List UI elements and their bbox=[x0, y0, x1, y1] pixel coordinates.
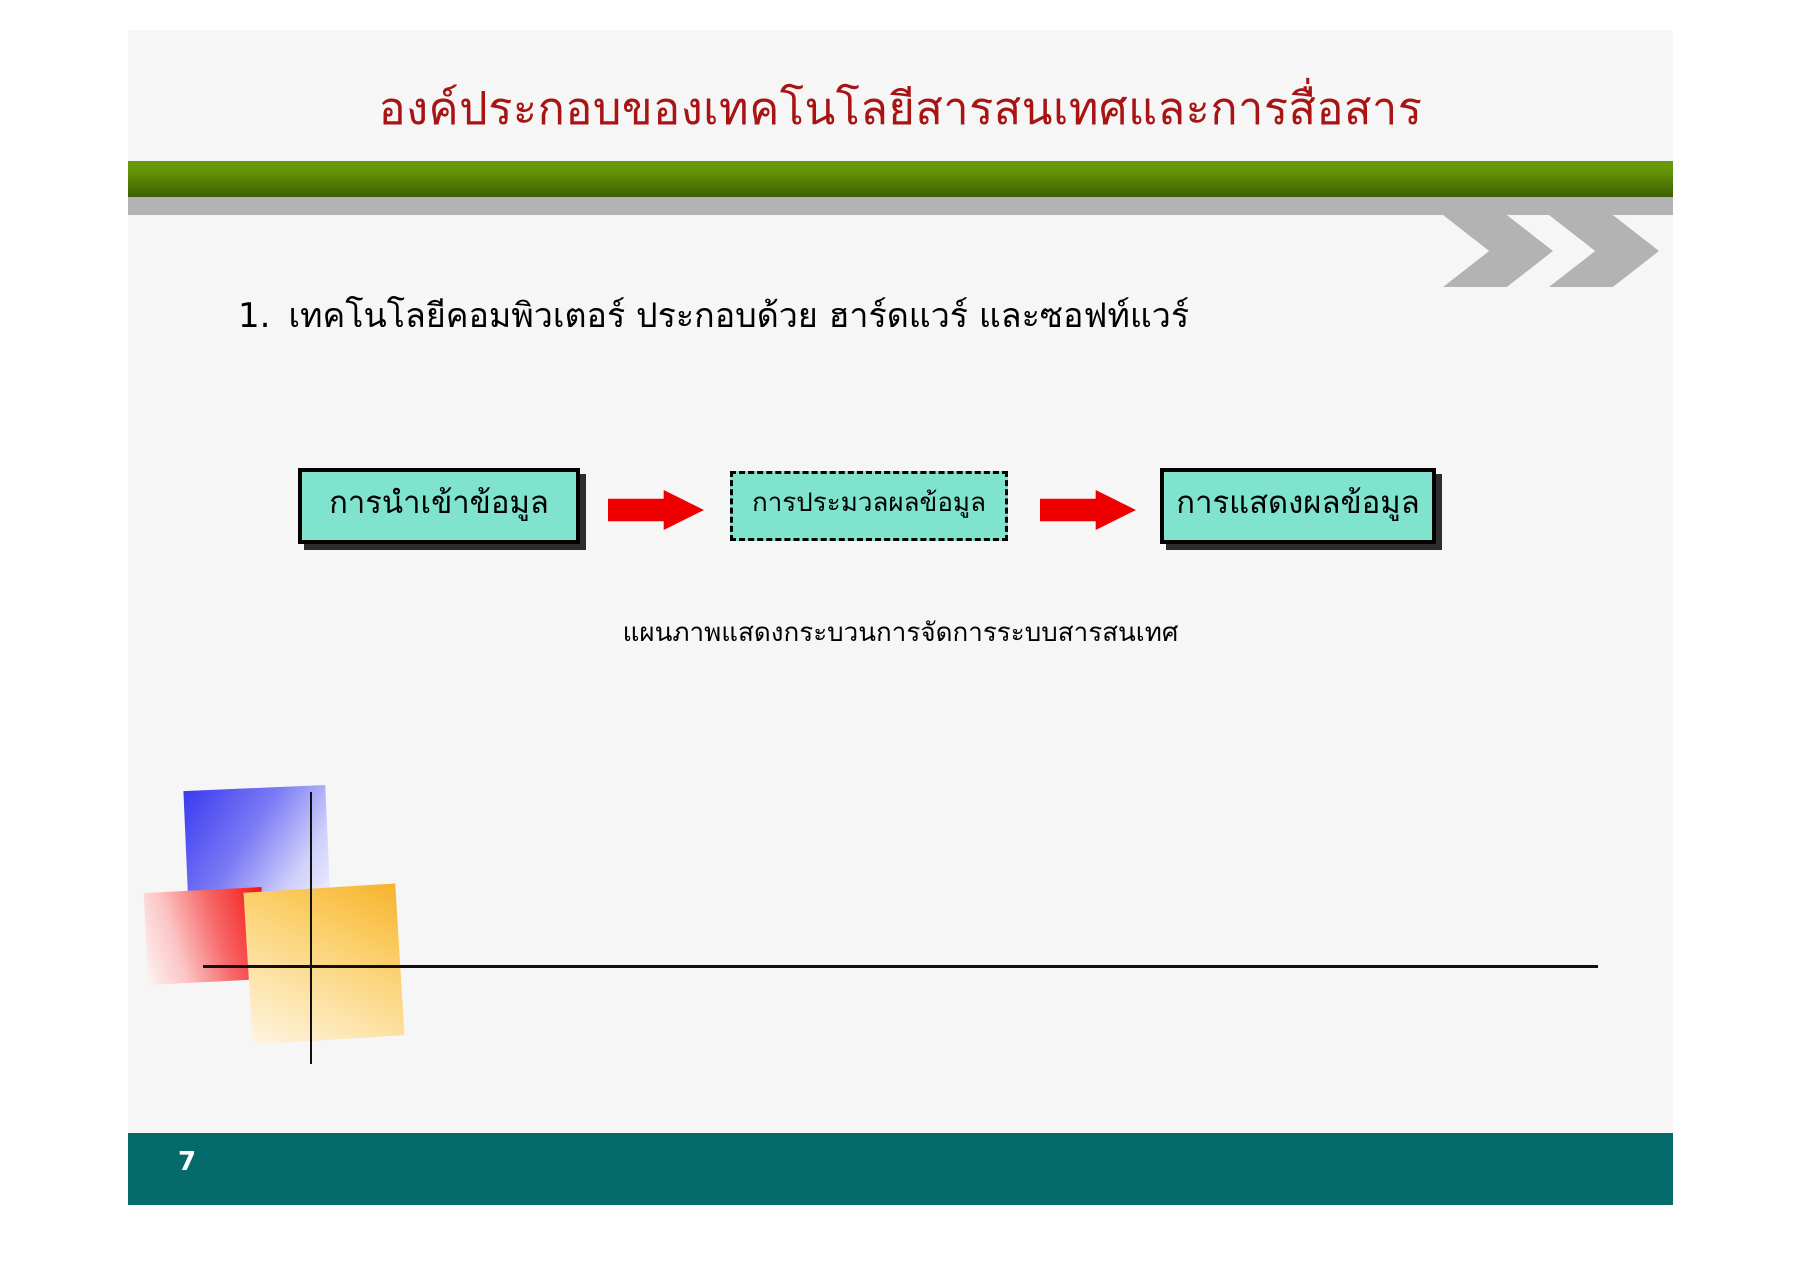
title-block: องค์ประกอบของเทคโนโลยีสารสนเทศและการสื่อ… bbox=[128, 30, 1673, 162]
flow-box-input-label: การนำเข้าข้อมูล bbox=[329, 488, 549, 519]
chevron-right-icon bbox=[1443, 215, 1553, 287]
arrow-right-icon bbox=[608, 490, 704, 530]
flow-box-process-label: การประมวลผลข้อมูล bbox=[752, 490, 986, 516]
flow-box-input: การนำเข้าข้อมูล bbox=[298, 468, 580, 544]
page-number: 7 bbox=[178, 1147, 196, 1177]
green-divider-bar bbox=[128, 161, 1673, 197]
decorative-square-orange bbox=[244, 884, 405, 1045]
gray-divider-bar bbox=[128, 197, 1673, 215]
decorative-vertical-line bbox=[310, 792, 312, 1064]
process-flow-diagram: การนำเข้าข้อมูล การประมวลผลข้อมูล การแสด… bbox=[168, 468, 1628, 578]
flow-box-output: การแสดงผลข้อมูล bbox=[1160, 468, 1436, 544]
footer-bar: 7 bbox=[128, 1133, 1673, 1205]
bullet-text: เทคโนโลยีคอมพิวเตอร์ ประกอบด้วย ฮาร์ดแวร… bbox=[288, 288, 1189, 342]
flow-box-process: การประมวลผลข้อมูล bbox=[730, 471, 1008, 541]
diagram-caption: แผนภาพแสดงกระบวนการจัดการระบบสารสนเทศ bbox=[128, 612, 1673, 653]
page-title: องค์ประกอบของเทคโนโลยีสารสนเทศและการสื่อ… bbox=[128, 86, 1673, 131]
slide-canvas: องค์ประกอบของเทคโนโลยีสารสนเทศและการสื่อ… bbox=[128, 30, 1673, 1205]
bullet-item: 1. เทคโนโลยีคอมพิวเตอร์ ประกอบด้วย ฮาร์ด… bbox=[238, 288, 1538, 342]
arrow-right-icon bbox=[1040, 490, 1136, 530]
bullet-number: 1. bbox=[238, 296, 270, 336]
decorative-squares bbox=[138, 770, 438, 1070]
decorative-horizontal-line bbox=[203, 965, 1598, 968]
flow-box-output-label: การแสดงผลข้อมูล bbox=[1176, 488, 1419, 519]
chevron-right-icon bbox=[1549, 215, 1659, 287]
chevron-decoration bbox=[1413, 215, 1673, 287]
